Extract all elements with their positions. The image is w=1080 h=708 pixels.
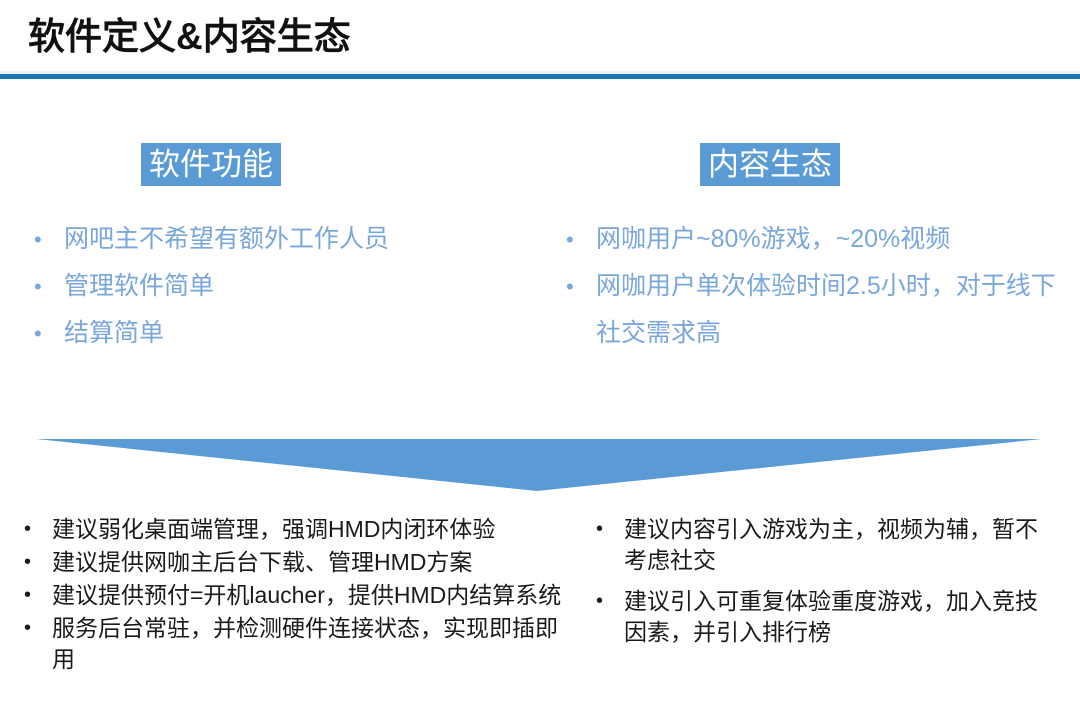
bullet-dot-icon: • [18,613,52,644]
bullet-dot-icon: • [18,547,52,578]
list-item: • 网咖用户~80%游戏，~20%视频 [560,216,1060,263]
list-item-label: 建议内容引入游戏为主，视频为辅，暂不考虑社交 [624,514,1060,576]
conclusion-list-left: • 建议弱化桌面端管理，强调HMD内闭环体验 • 建议提供网咖主后台下载、管理H… [18,514,578,677]
list-item: • 建议提供网咖主后台下载、管理HMD方案 [18,547,578,578]
list-item-label: 管理软件简单 [64,263,528,310]
bullet-dot-icon: • [590,514,624,545]
page-title: 软件定义&内容生态 [28,14,351,60]
list-item-label: 服务后台常驻，并检测硬件连接状态，实现即插即用 [52,613,578,675]
conclusion-list-right: • 建议内容引入游戏为主，视频为辅，暂不考虑社交 • 建议引入可重复体验重度游戏… [590,514,1060,658]
list-item: • 建议引入可重复体验重度游戏，加入竞技因素，并引入排行榜 [590,586,1060,648]
list-item: • 结算简单 [28,310,528,357]
list-item-label: 结算简单 [64,310,528,357]
slide-header: 软件定义&内容生态 [0,0,1080,82]
upper-bullet-list-left: • 网吧主不希望有额外工作人员 • 管理软件简单 • 结算简单 [28,216,528,357]
bullet-dot-icon: • [590,586,624,617]
bullet-dot-icon: • [28,263,64,310]
list-item: • 服务后台常驻，并检测硬件连接状态，实现即插即用 [18,613,578,675]
bullet-dot-icon: • [18,514,52,545]
column-heading-content-ecosystem: 内容生态 [700,143,840,186]
upper-bullet-list-right: • 网咖用户~80%游戏，~20%视频 • 网咖用户单次体验时间2.5小时，对于… [560,216,1060,357]
list-item-label: 网咖用户~80%游戏，~20%视频 [596,216,1060,263]
down-arrow-icon [0,430,1080,500]
list-item-label: 建议提供网咖主后台下载、管理HMD方案 [52,547,578,578]
list-item: • 建议弱化桌面端管理，强调HMD内闭环体验 [18,514,578,545]
bullet-dot-icon: • [28,310,64,357]
bullet-dot-icon: • [18,580,52,611]
header-rule [0,74,1080,79]
column-heading-software-function: 软件功能 [141,143,281,186]
list-item-label: 网吧主不希望有额外工作人员 [64,216,528,263]
list-item: • 管理软件简单 [28,263,528,310]
bullet-dot-icon: • [560,216,596,263]
list-item: • 建议提供预付=开机laucher，提供HMD内结算系统 [18,580,578,611]
list-item: • 网吧主不希望有额外工作人员 [28,216,528,263]
down-arrow-divider [0,430,1080,500]
list-item: • 网咖用户单次体验时间2.5小时，对于线下社交需求高 [560,263,1060,357]
list-item-label: 建议引入可重复体验重度游戏，加入竞技因素，并引入排行榜 [624,586,1060,648]
bullet-dot-icon: • [28,216,64,263]
list-item-label: 建议弱化桌面端管理，强调HMD内闭环体验 [52,514,578,545]
list-item-label: 建议提供预付=开机laucher，提供HMD内结算系统 [52,580,578,611]
list-item-label: 网咖用户单次体验时间2.5小时，对于线下社交需求高 [596,263,1060,357]
bullet-dot-icon: • [560,263,596,310]
list-item: • 建议内容引入游戏为主，视频为辅，暂不考虑社交 [590,514,1060,576]
